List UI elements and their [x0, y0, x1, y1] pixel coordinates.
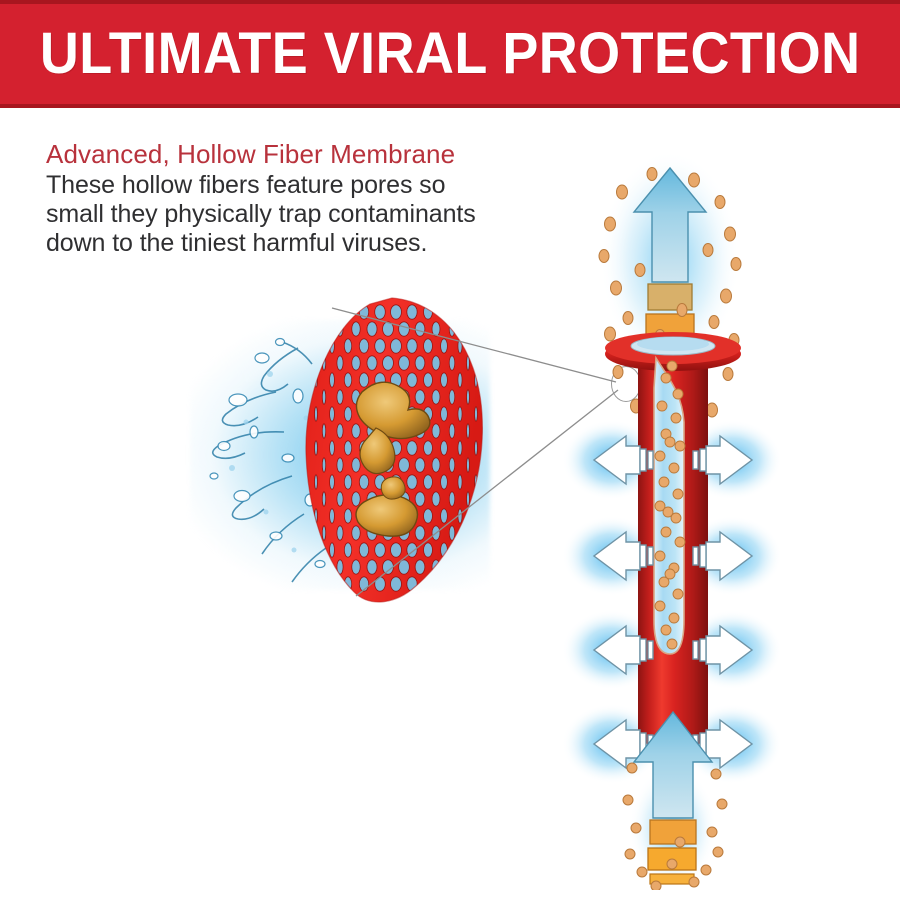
intro-heading: Advanced, Hollow Fiber Membrane: [46, 140, 586, 169]
membrane-illustration: [180, 290, 580, 620]
page-title: ULTIMATE VIRAL PROTECTION: [40, 25, 861, 83]
intro-body-line-2: small they physically trap contaminants: [46, 200, 586, 229]
infographic-poster: ULTIMATE VIRAL PROTECTION Advanced, Holl…: [0, 0, 900, 900]
header-banner: ULTIMATE VIRAL PROTECTION: [0, 0, 900, 108]
cartridge-illustration: [560, 150, 860, 890]
filter-cartridge-icon: [560, 150, 860, 890]
intro-body-line-3: down to the tiniest harmful viruses.: [46, 229, 586, 258]
intro-body-line-1: These hollow fibers feature pores so: [46, 171, 586, 200]
intro-body: These hollow fibers feature pores so sma…: [46, 171, 586, 258]
callout-leader-lines: [180, 290, 580, 620]
intro-text-block: Advanced, Hollow Fiber Membrane These ho…: [46, 140, 586, 258]
